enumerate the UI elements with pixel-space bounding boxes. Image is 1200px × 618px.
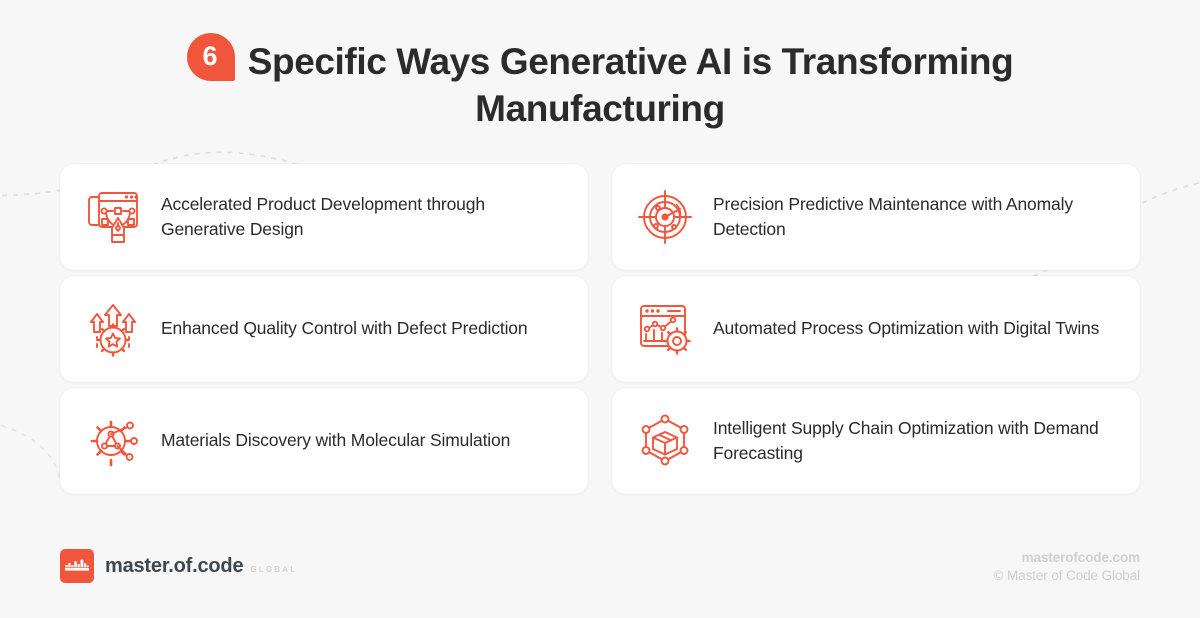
- footer: master.of.code GLOBAL masterofcode.com ©…: [0, 528, 1200, 618]
- brand-logo[interactable]: master.of.code GLOBAL: [60, 549, 297, 583]
- brand-subtitle: GLOBAL: [250, 565, 297, 574]
- radar-anomaly-detection-icon: [634, 186, 696, 248]
- gear-star-growth-icon: [82, 298, 144, 360]
- brand-name: master.of.code: [105, 555, 243, 578]
- infographic-page: 6 Specific Ways Generative AI is Transfo…: [0, 0, 1200, 618]
- page-title: Specific Ways Generative AI is Transform…: [248, 41, 1014, 129]
- card-title: Materials Discovery with Molecular Simul…: [161, 428, 510, 453]
- card-intelligent-supply-chain[interactable]: Intelligent Supply Chain Optimization wi…: [612, 388, 1140, 494]
- footer-credits: masterofcode.com © Master of Code Global: [994, 550, 1140, 583]
- card-automated-process-optimization[interactable]: Automated Process Optimization with Digi…: [612, 276, 1140, 382]
- count-badge: 6: [187, 33, 235, 81]
- footer-website[interactable]: masterofcode.com: [994, 550, 1140, 565]
- count-badge-number: 6: [187, 33, 235, 81]
- molecular-gear-icon: [82, 410, 144, 472]
- card-enhanced-quality-control[interactable]: Enhanced Quality Control with Defect Pre…: [60, 276, 588, 382]
- card-title: Intelligent Supply Chain Optimization wi…: [713, 416, 1114, 466]
- master-of-code-logo-icon: [60, 549, 94, 583]
- card-title: Accelerated Product Development through …: [161, 192, 562, 242]
- header: 6 Specific Ways Generative AI is Transfo…: [0, 0, 1200, 133]
- title-row: 6 Specific Ways Generative AI is Transfo…: [0, 33, 1200, 133]
- card-materials-discovery[interactable]: Materials Discovery with Molecular Simul…: [60, 388, 588, 494]
- footer-copyright: © Master of Code Global: [994, 568, 1140, 583]
- card-title: Enhanced Quality Control with Defect Pre…: [161, 316, 527, 341]
- card-title: Precision Predictive Maintenance with An…: [713, 192, 1114, 242]
- generative-design-icon: [82, 186, 144, 248]
- card-precision-predictive-maintenance[interactable]: Precision Predictive Maintenance with An…: [612, 164, 1140, 270]
- package-network-icon: [634, 410, 696, 472]
- card-accelerated-product-development[interactable]: Accelerated Product Development through …: [60, 164, 588, 270]
- cards-grid: Accelerated Product Development through …: [60, 164, 1140, 494]
- analytics-dashboard-gear-icon: [634, 298, 696, 360]
- card-title: Automated Process Optimization with Digi…: [713, 316, 1099, 341]
